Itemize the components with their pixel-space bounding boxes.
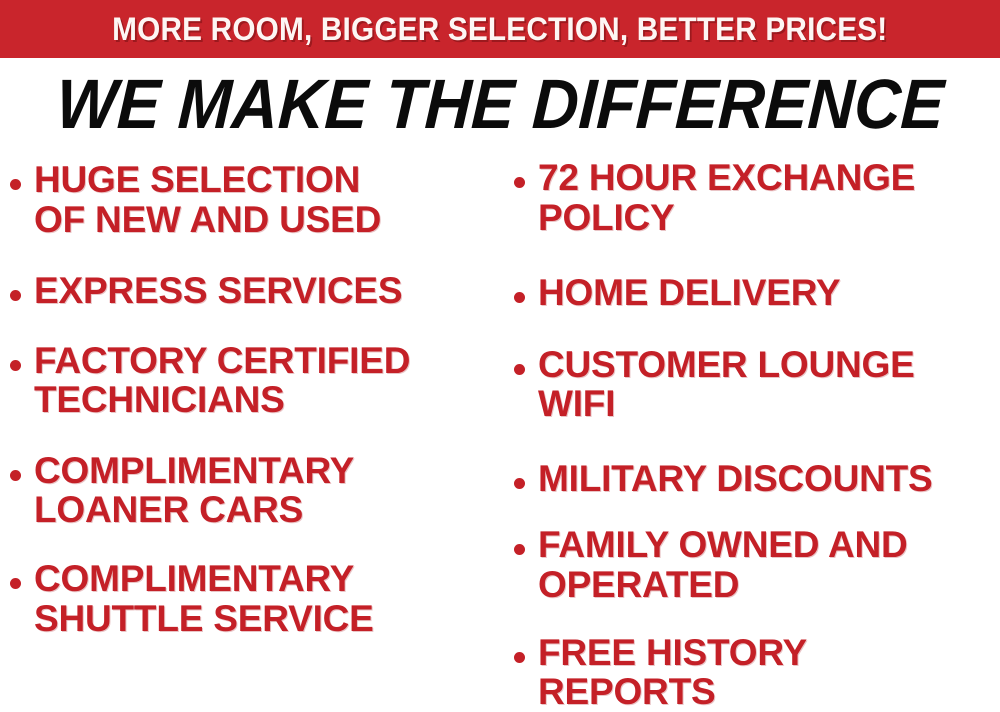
benefits-section: HUGE SELECTION OF NEW AND USED EXPRESS S… (0, 150, 1000, 694)
bullet-dot-icon (10, 470, 21, 481)
benefit-label: FACTORY CERTIFIED TECHNICIANS (34, 341, 410, 420)
bullet-dot-icon (10, 290, 21, 301)
benefit-label: HOME DELIVERY (538, 273, 840, 313)
benefit-item: HUGE SELECTION OF NEW AND USED (10, 160, 500, 239)
benefit-label: 72 HOUR EXCHANGE POLICY (538, 158, 915, 237)
bullet-dot-icon (514, 478, 525, 489)
benefit-label: FREE HISTORY REPORTS (538, 633, 807, 712)
benefits-left-column: HUGE SELECTION OF NEW AND USED EXPRESS S… (10, 150, 500, 694)
bullet-dot-icon (514, 177, 525, 188)
benefit-label: HUGE SELECTION OF NEW AND USED (34, 160, 381, 239)
benefit-item: CUSTOMER LOUNGE WIFI (514, 345, 1000, 424)
benefit-label: CUSTOMER LOUNGE WIFI (538, 345, 915, 424)
bullet-dot-icon (514, 544, 525, 555)
benefit-label: COMPLIMENTARY LOANER CARS (34, 451, 354, 530)
benefits-right-column: 72 HOUR EXCHANGE POLICY HOME DELIVERY CU… (514, 150, 1000, 694)
benefit-item: FREE HISTORY REPORTS (514, 633, 1000, 712)
bullet-dot-icon (514, 652, 525, 663)
bullet-dot-icon (514, 364, 525, 375)
benefit-item: COMPLIMENTARY SHUTTLE SERVICE (10, 559, 500, 638)
bullet-dot-icon (10, 360, 21, 371)
benefit-item: 72 HOUR EXCHANGE POLICY (514, 158, 1000, 237)
benefit-item: HOME DELIVERY (514, 273, 1000, 313)
benefit-label: FAMILY OWNED AND OPERATED (538, 525, 908, 604)
benefit-item: EXPRESS SERVICES (10, 271, 500, 311)
benefit-label: EXPRESS SERVICES (34, 271, 402, 311)
benefit-item: MILITARY DISCOUNTS (514, 459, 1000, 499)
benefit-item: FACTORY CERTIFIED TECHNICIANS (10, 341, 500, 420)
headline-text: WE MAKE THE DIFFERENCE (55, 69, 946, 139)
promo-banner-text: MORE ROOM, BIGGER SELECTION, BETTER PRIC… (112, 13, 887, 45)
promo-banner: MORE ROOM, BIGGER SELECTION, BETTER PRIC… (0, 0, 1000, 58)
benefit-item: FAMILY OWNED AND OPERATED (514, 525, 1000, 604)
bullet-dot-icon (10, 179, 21, 190)
benefit-label: COMPLIMENTARY SHUTTLE SERVICE (34, 559, 374, 638)
headline: WE MAKE THE DIFFERENCE (0, 68, 1000, 140)
bullet-dot-icon (10, 578, 21, 589)
benefit-label: MILITARY DISCOUNTS (538, 459, 933, 499)
benefit-item: COMPLIMENTARY LOANER CARS (10, 451, 500, 530)
bullet-dot-icon (514, 292, 525, 303)
